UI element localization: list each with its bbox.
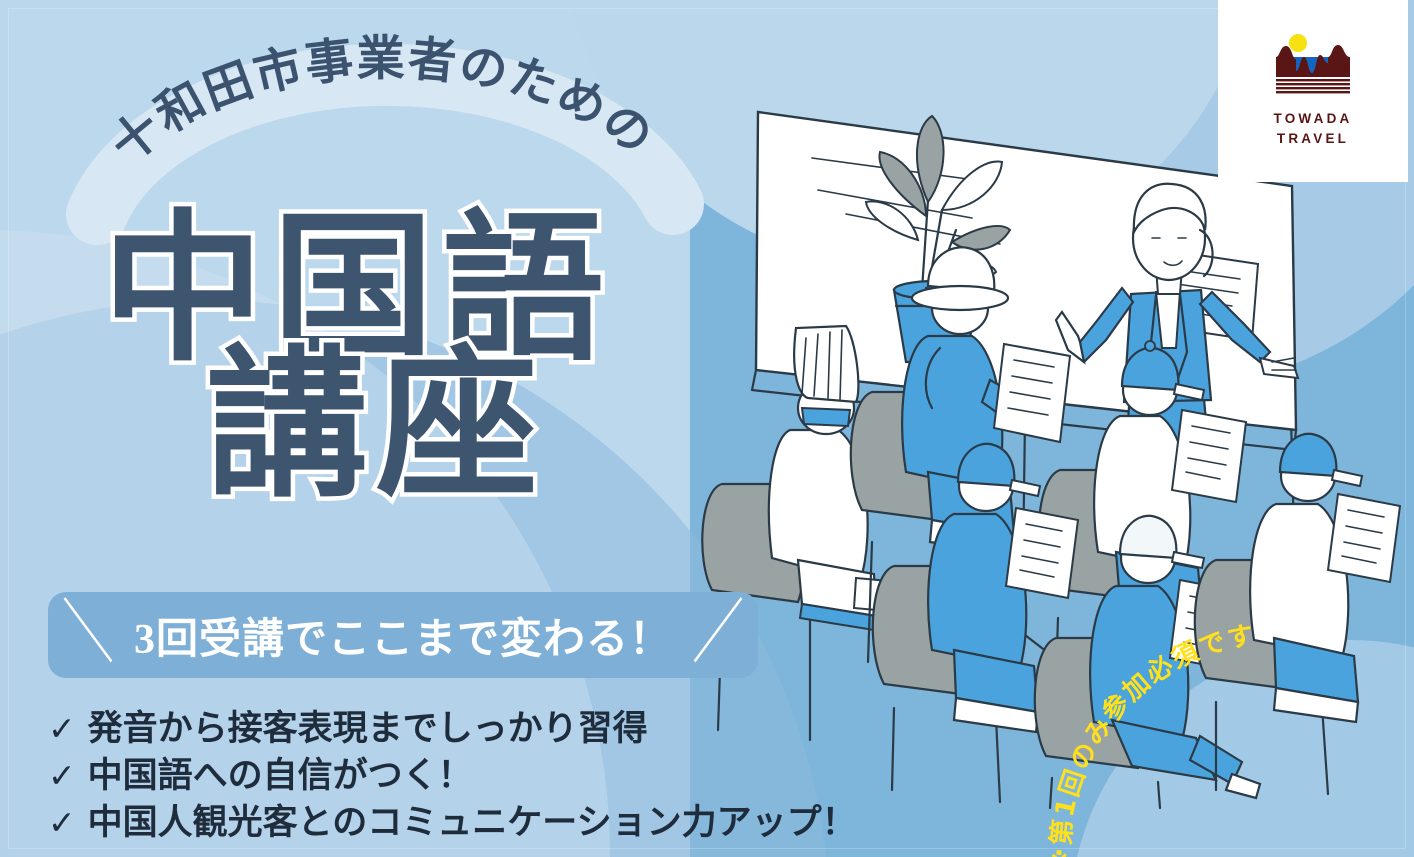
check-icon: ✓ <box>48 802 76 846</box>
subtitle-banner-text: 3回受講でここまで変わる！ <box>134 605 672 666</box>
benefit-list: ✓ 発音から接客表現までしっかり習得 ✓ 中国語への自信がつく！ ✓ 中国人観光… <box>48 706 848 847</box>
sun-icon <box>1289 34 1307 52</box>
check-icon: ✓ <box>48 708 76 752</box>
slash-left-icon: ＼ <box>62 600 114 670</box>
poster-root: 十和田市事業者のための 中国語 講座 ＼ 3回受講でここまで変わる！ ／ ✓ 発… <box>0 0 1414 857</box>
brand-logo: TOWADA TRAVEL <box>1218 0 1408 182</box>
subtitle-banner: ＼ 3回受講でここまで変わる！ ／ <box>48 592 758 678</box>
list-item-label: 中国人観光客とのコミュニケーション力アップ！ <box>88 800 857 847</box>
list-item: ✓ 発音から接客表現までしっかり習得 <box>48 706 848 753</box>
attendance-note-text: ※第1回のみ参加必須です <box>1046 620 1258 857</box>
list-item: ✓ 中国人観光客とのコミュニケーション力アップ！ <box>48 800 848 847</box>
title-line-2: 講座 <box>206 350 736 504</box>
list-item-label: 中国語への自信がつく！ <box>88 753 473 800</box>
logo-line-2: TRAVEL <box>1274 129 1353 149</box>
page-title: 中国語 講座 <box>96 214 736 504</box>
attendance-note: ※第1回のみ参加必須です <box>1030 600 1414 857</box>
slash-right-icon: ／ <box>692 600 744 670</box>
list-item-label: 発音から接客表現までしっかり習得 <box>88 706 648 753</box>
check-icon: ✓ <box>48 755 76 799</box>
logo-line-1: TOWADA <box>1274 109 1353 129</box>
list-item: ✓ 中国語への自信がつく！ <box>48 753 848 800</box>
towada-mountain-icon <box>1270 33 1356 99</box>
